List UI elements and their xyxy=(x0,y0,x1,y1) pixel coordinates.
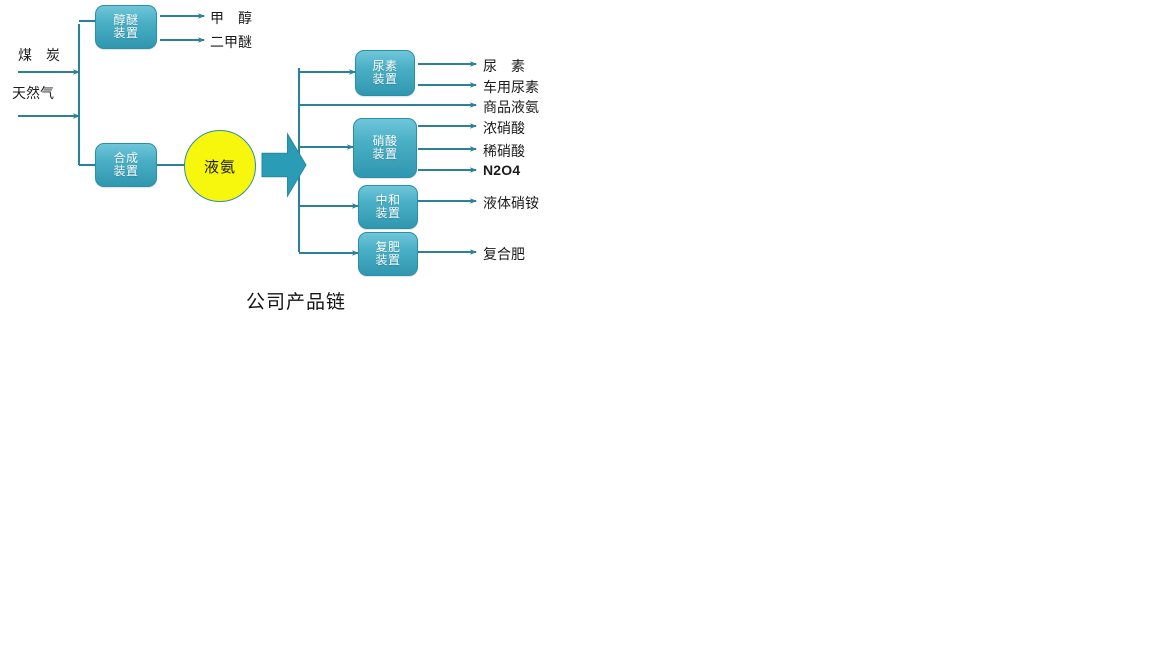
node-label-line1: 中和 xyxy=(375,194,400,207)
node-label-line2: 装置 xyxy=(375,207,400,220)
product-label-urea: 尿 素 xyxy=(483,56,525,76)
node-label-line1: 合成 xyxy=(113,152,138,165)
product-label-dilute-nitric-acid: 稀硝酸 xyxy=(483,141,525,161)
source-label-natural-gas: 天然气 xyxy=(12,83,54,103)
product-label-concentrated-nitric-acid: 浓硝酸 xyxy=(483,118,525,138)
diagram-title: 公司产品链 xyxy=(246,287,346,314)
node-urea-unit[interactable]: 尿素 装置 xyxy=(355,50,415,96)
product-chain-diagram: 煤 炭 天然气 醇醚 装置 合成 装置 尿素 装置 硝酸 装置 中和 装置 复肥… xyxy=(0,0,1152,648)
node-compound-fertilizer-unit[interactable]: 复肥 装置 xyxy=(358,232,418,276)
node-label-line1: 复肥 xyxy=(375,241,400,254)
node-label-line1: 尿素 xyxy=(372,60,397,73)
product-label-n2o4: N2O4 xyxy=(483,162,520,178)
node-neutralization-unit[interactable]: 中和 装置 xyxy=(358,185,418,229)
product-label-dimethyl-ether: 二甲醚 xyxy=(210,32,252,52)
source-label-coal: 煤 炭 xyxy=(18,45,60,65)
node-alcohol-ether-unit[interactable]: 醇醚 装置 xyxy=(95,5,157,49)
node-label-line2: 装置 xyxy=(113,27,138,40)
node-synthesis-unit[interactable]: 合成 装置 xyxy=(95,143,157,187)
product-label-compound-fertilizer: 复合肥 xyxy=(483,244,525,264)
product-label-liquid-ammonium-nitrate: 液体硝铵 xyxy=(483,193,539,213)
node-label-line2: 装置 xyxy=(113,165,138,178)
node-label-line2: 装置 xyxy=(375,254,400,267)
product-label-vehicle-urea: 车用尿素 xyxy=(483,77,539,97)
product-label-commercial-liquid-ammonia: 商品液氨 xyxy=(483,97,539,117)
node-label-line2: 装置 xyxy=(372,148,397,161)
big-flow-arrow xyxy=(262,134,306,196)
node-label-line1: 醇醚 xyxy=(113,14,138,27)
node-label-line2: 装置 xyxy=(372,73,397,86)
product-label-methanol: 甲 醇 xyxy=(210,8,252,28)
flow-arrow-layer xyxy=(0,0,1152,648)
hub-liquid-ammonia[interactable]: 液氨 xyxy=(184,130,256,202)
hub-label: 液氨 xyxy=(204,156,236,177)
node-label-line1: 硝酸 xyxy=(372,135,397,148)
node-nitric-acid-unit[interactable]: 硝酸 装置 xyxy=(353,118,417,178)
